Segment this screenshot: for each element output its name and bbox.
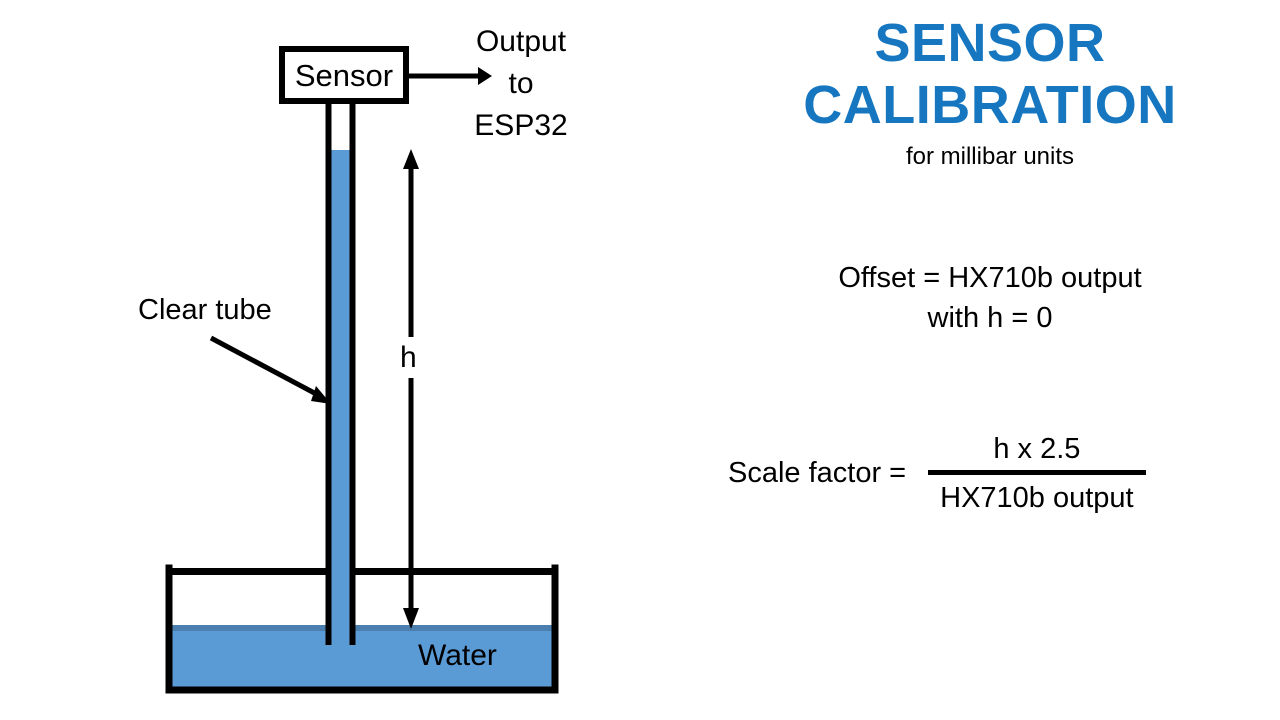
sensor-box-label: Sensor xyxy=(282,49,406,101)
slide-canvas: Sensor Output to ESP32 Clear tube h Wate… xyxy=(0,0,1280,720)
clear-tube-pointer-arrow-icon xyxy=(211,338,331,404)
fraction-denominator: HX710b output xyxy=(928,475,1145,517)
water-label: Water xyxy=(418,641,497,671)
calibration-info-panel: SENSOR CALIBRATION for millibar units Of… xyxy=(700,0,1280,720)
panel-title-block: SENSOR CALIBRATION for millibar units xyxy=(700,12,1280,174)
clear-tube-label: Clear tube xyxy=(138,296,272,325)
container-water-fill xyxy=(169,625,555,689)
tube-water-column xyxy=(331,150,350,648)
height-dimension-arrow-icon xyxy=(403,149,419,629)
output-destination-label: Output to ESP32 xyxy=(456,21,586,147)
offset-formula-line-1: Offset = HX710b output xyxy=(750,258,1230,298)
output-label-line-1: Output xyxy=(456,21,586,63)
output-label-line-2: to xyxy=(456,63,586,105)
fraction-numerator: h x 2.5 xyxy=(928,430,1145,470)
height-variable-label: h xyxy=(400,343,417,373)
scale-factor-formula: Scale factor = h x 2.5 HX710b output xyxy=(700,430,1280,517)
output-label-line-3: ESP32 xyxy=(456,105,586,147)
apparatus-diagram xyxy=(0,0,700,720)
scale-factor-fraction: h x 2.5 HX710b output xyxy=(928,430,1145,517)
panel-title-line-1: SENSOR xyxy=(700,12,1280,74)
panel-subtitle: for millibar units xyxy=(700,140,1280,174)
panel-title-line-2: CALIBRATION xyxy=(700,74,1280,136)
scale-factor-label: Scale factor = xyxy=(728,457,928,490)
offset-formula-line-2: with h = 0 xyxy=(750,298,1230,338)
tube-air-column xyxy=(331,101,350,150)
offset-formula: Offset = HX710b output with h = 0 xyxy=(750,258,1230,338)
water-surface-line xyxy=(169,625,555,631)
